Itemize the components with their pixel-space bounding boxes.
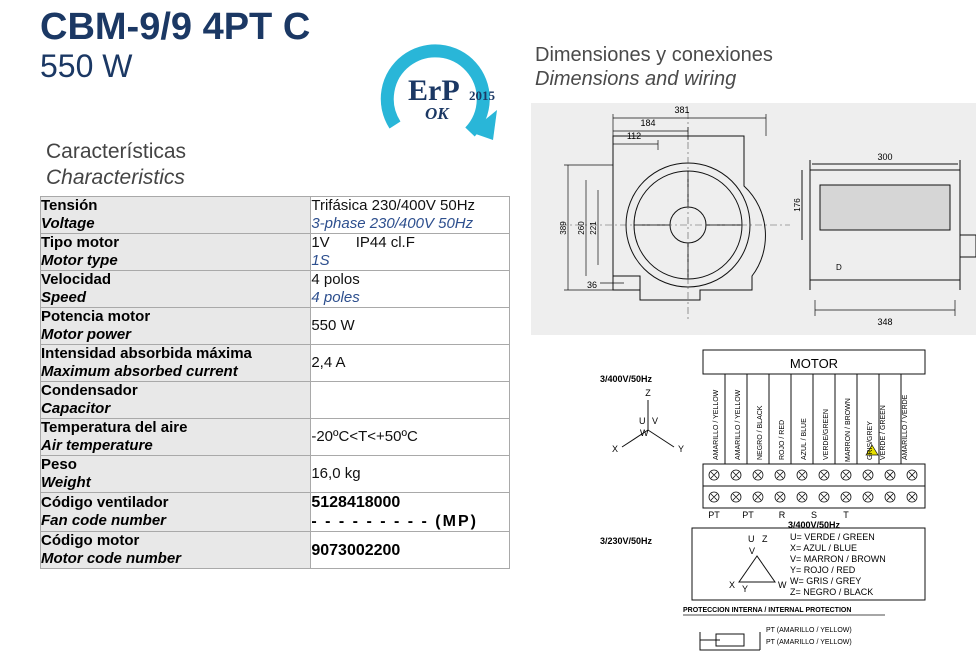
star-node: Z <box>645 388 651 398</box>
wire-label: GRIS/GREY <box>867 421 874 460</box>
dim-112: 112 <box>627 131 641 141</box>
star-node: V <box>652 416 658 426</box>
dim-221: 221 <box>589 221 598 235</box>
legend-line: W= GRIS / GREY <box>790 576 861 586</box>
legend-line: Z= NEGRO / BLACK <box>790 587 873 597</box>
dim-300: 300 <box>877 152 892 162</box>
legend-line: Y= ROJO / RED <box>790 565 856 575</box>
terminal-label: R <box>779 510 786 520</box>
legend-line: V= MARRON / BROWN <box>790 554 886 564</box>
dim-260: 260 <box>577 221 586 235</box>
wire-label: AZUL / BLUE <box>801 418 808 460</box>
legend-line: X= AZUL / BLUE <box>790 543 857 553</box>
dim-389: 389 <box>559 221 568 235</box>
wire-label: VERDE/GREEN <box>823 409 830 460</box>
protection-line: PT (AMARILLO / YELLOW) <box>766 627 852 634</box>
dim-36: 36 <box>587 280 597 290</box>
terminal-label: PT <box>708 510 720 520</box>
technical-drawing: 381 184 112 389 260 221 36 300 176 348 D <box>0 0 976 665</box>
wire-label: MARRON / BROWN <box>845 398 852 462</box>
delta-node: X <box>729 580 735 590</box>
dim-letter-D: D <box>836 263 842 272</box>
delta-node: V <box>749 546 755 556</box>
dim-348: 348 <box>877 317 892 327</box>
star-node: W <box>640 428 649 438</box>
supply-delta-label: 3/230V/50Hz <box>600 536 653 546</box>
delta-node: Y <box>742 584 748 594</box>
protection-title: PROTECCION INTERNA / INTERNAL PROTECTION <box>683 607 851 614</box>
terminal-label: PT <box>742 510 754 520</box>
delta-node: Z <box>762 534 768 544</box>
star-node: Y <box>678 444 684 454</box>
star-node: X <box>612 444 618 454</box>
terminal-label: S <box>811 510 817 520</box>
dim-176: 176 <box>793 198 802 212</box>
dim-184: 184 <box>640 118 655 128</box>
wire-label: ROJO / RED <box>779 420 786 460</box>
delta-node: W <box>778 580 787 590</box>
wire-label: AMARILLO / YELLOW <box>735 389 742 460</box>
wire-label: NEGRO / BLACK <box>757 405 764 460</box>
legend-line: U= VERDE / GREEN <box>790 532 875 542</box>
wire-label: VERDE / GREEN <box>880 405 887 460</box>
wire-label: AMARILLO / YELLOW <box>713 389 720 460</box>
terminal-label: T <box>843 510 849 520</box>
supply-star-label: 3/400V/50Hz <box>600 374 653 384</box>
protection-line: PT (AMARILLO / YELLOW) <box>766 639 852 646</box>
star-node: U <box>639 416 646 426</box>
delta-node: U <box>748 534 755 544</box>
dim-381: 381 <box>674 105 689 115</box>
wire-label: AMARILLO / VERDE <box>902 394 909 460</box>
motor-block-label: MOTOR <box>790 356 838 371</box>
